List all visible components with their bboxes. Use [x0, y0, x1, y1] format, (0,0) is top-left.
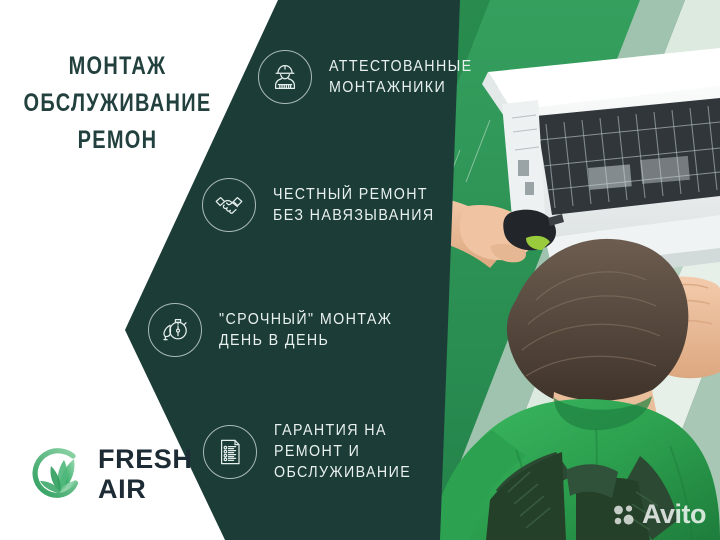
feature-label: ГАРАНТИЯ НА РЕМОНТ И ОБСЛУЖИВАНИЕ: [274, 420, 411, 483]
feature-item-honest-repair: ЧЕСТНЫЙ РЕМОНТ БЕЗ НАВЯЗЫВАНИЯ: [202, 178, 449, 232]
feature-label: "СРОЧНЫЙ" МОНТАЖ ДЕНЬ В ДЕНЬ: [219, 309, 392, 351]
headline-line-1: МОНТАЖ: [24, 48, 212, 85]
feature-label: АТТЕСТОВАННЫЕ МОНТАЖНИКИ: [329, 56, 473, 98]
handshake-icon: [202, 178, 256, 232]
brand-name-line-1: FRESH: [98, 444, 193, 474]
leaf-circle-icon: [26, 442, 92, 508]
feature-item-warranty: ГАРАНТИЯ НА РЕМОНТ И ОБСЛУЖИВАНИЕ: [203, 420, 423, 483]
banner-canvas: МОНТАЖ ОБСЛУЖИВАНИЕ РЕМОН АТТЕСТОВАННЫЕ …: [0, 0, 720, 540]
feature-line: РЕМОНТ И: [274, 441, 411, 462]
checklist-document-icon: [203, 425, 257, 479]
page-title: МОНТАЖ ОБСЛУЖИВАНИЕ РЕМОН: [24, 48, 212, 159]
feature-line: ОБСЛУЖИВАНИЕ: [274, 462, 411, 483]
feature-line: ДЕНЬ В ДЕНЬ: [219, 330, 392, 351]
stopwatch-icon: [148, 303, 202, 357]
avito-label: Avito: [642, 501, 706, 528]
feature-line: "СРОЧНЫЙ" МОНТАЖ: [219, 309, 392, 330]
avito-watermark: Avito: [612, 501, 706, 528]
feature-label: ЧЕСТНЫЙ РЕМОНТ БЕЗ НАВЯЗЫВАНИЯ: [273, 184, 435, 226]
brand-name: FRESH AIR: [98, 444, 193, 504]
feature-line: ЧЕСТНЫЙ РЕМОНТ: [273, 184, 435, 205]
feature-item-certified-installers: АТТЕСТОВАННЫЕ МОНТАЖНИКИ: [258, 50, 485, 104]
feature-line: МОНТАЖНИКИ: [329, 77, 473, 98]
feature-line: БЕЗ НАВЯЗЫВАНИЯ: [273, 205, 435, 226]
brand-name-line-2: AIR: [98, 474, 193, 504]
headline-line-3: РЕМОН: [24, 122, 212, 159]
feature-item-same-day: "СРОЧНЫЙ" МОНТАЖ ДЕНЬ В ДЕНЬ: [148, 303, 407, 357]
headline-line-2: ОБСЛУЖИВАНИЕ: [24, 85, 212, 122]
feature-line: ГАРАНТИЯ НА: [274, 420, 411, 441]
brand-logo: FRESH AIR: [26, 438, 206, 516]
worker-helmet-icon: [258, 50, 312, 104]
feature-line: АТТЕСТОВАННЫЕ: [329, 56, 473, 77]
avito-dots-icon: [612, 503, 636, 527]
